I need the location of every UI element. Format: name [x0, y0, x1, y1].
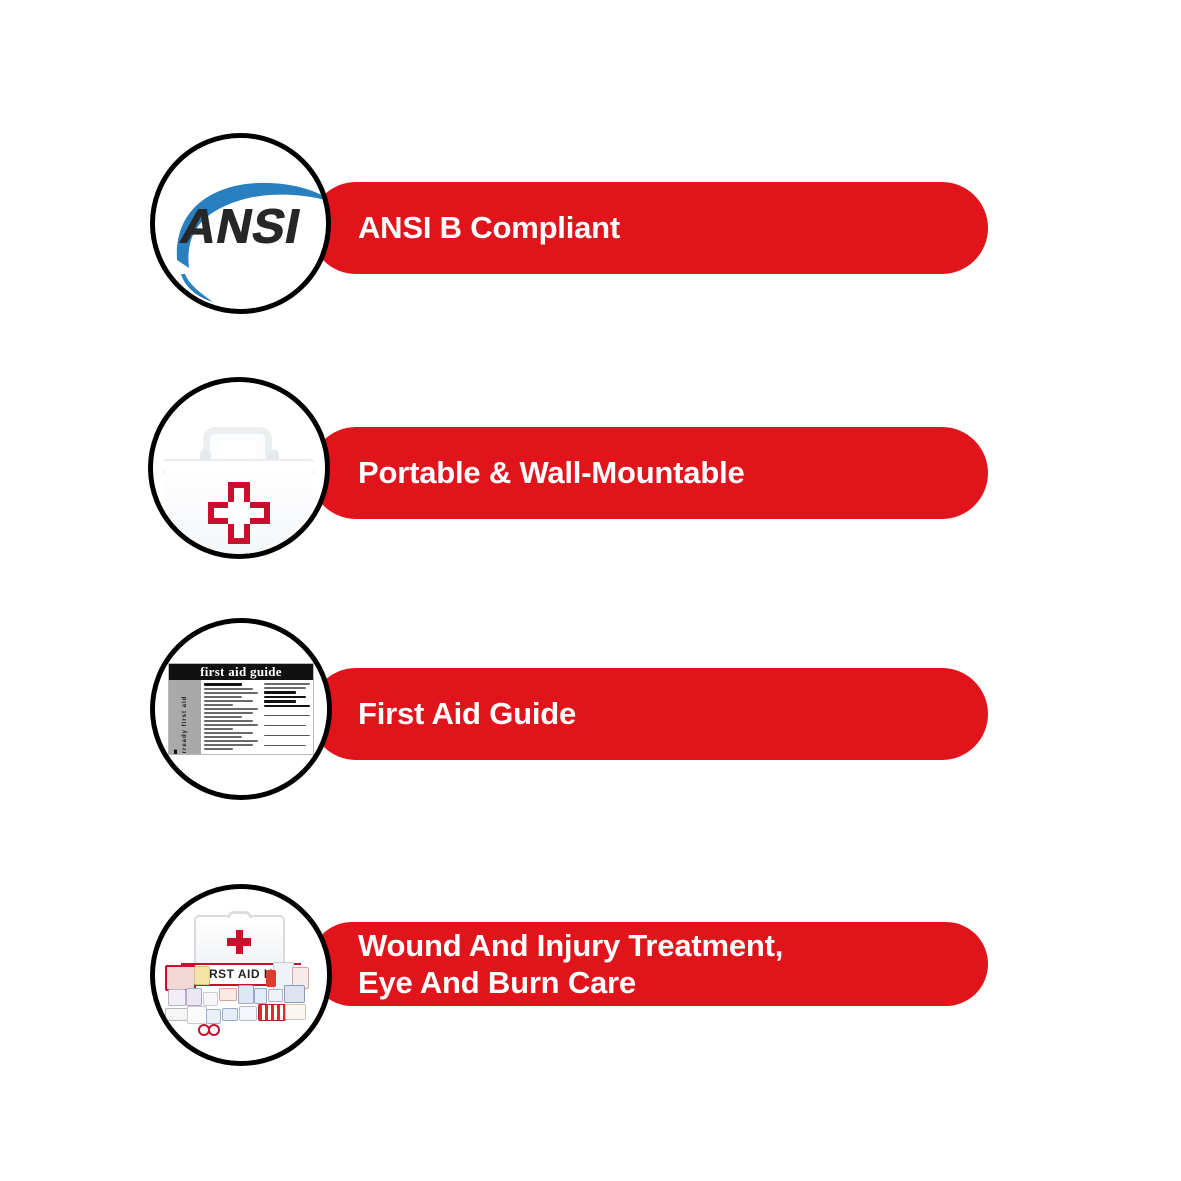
supply-item: [254, 988, 267, 1004]
feature-pill-first-aid-guide[interactable]: First Aid Guide: [310, 668, 988, 760]
supply-item: [219, 988, 237, 1000]
ansi-logo-icon: ANSI: [155, 138, 326, 309]
first-aid-kit-contents-icon: FIRST AID KIT: [155, 889, 327, 1061]
supply-item: [165, 1008, 188, 1022]
feature-pill-portable-wall-mountable[interactable]: Portable & Wall-Mountable: [310, 427, 988, 519]
kit-medical-cross-icon: [227, 930, 251, 954]
guide-card-header: first aid guide: [169, 664, 313, 680]
supply-item: [194, 966, 210, 985]
guide-card-column-left: [201, 680, 261, 753]
medical-cross-icon: [208, 482, 270, 544]
box-handle: [203, 427, 273, 460]
supply-item: [168, 989, 186, 1005]
supply-item: [165, 965, 196, 991]
supply-item: [284, 985, 305, 1003]
first-aid-guide-card-icon: first aid guide everready first aid E-R: [155, 623, 327, 795]
ansi-logo-text: ANSI: [176, 199, 305, 254]
guide-card-brand: everready first aid E-R: [169, 680, 201, 753]
feature-list: ANSI B Compliant ANSI Portable & Wall-Mo…: [0, 0, 1181, 1181]
supply-item: [222, 1008, 238, 1022]
guide-card-column-right: [261, 680, 313, 753]
feature-badge-first-aid-guide: first aid guide everready first aid E-R: [150, 618, 332, 800]
supply-item: [268, 989, 283, 1001]
feature-badge-ansi-b-compliant: ANSI: [150, 133, 331, 314]
feature-badge-portable-wall-mountable: [148, 377, 330, 559]
kit-box-handle: [227, 911, 252, 918]
feature-badge-wound-injury-eye-burn-care: FIRST AID KIT: [150, 884, 332, 1066]
feature-label-wound-injury-eye-burn-care: Wound And Injury Treatment, Eye And Burn…: [310, 927, 783, 1001]
feature-label-portable-wall-mountable: Portable & Wall-Mountable: [310, 454, 745, 492]
supply-item: [239, 1006, 257, 1021]
supply-item: [203, 992, 218, 1006]
feature-pill-ansi-b-compliant[interactable]: ANSI B Compliant: [310, 182, 988, 274]
supply-item: [186, 988, 202, 1006]
feature-label-first-aid-guide: First Aid Guide: [310, 695, 576, 733]
kit-box: [194, 915, 286, 970]
supply-item: [238, 985, 254, 1004]
guide-card-brand-tagline: everready first aid: [182, 696, 188, 754]
guide-card-title: first aid guide: [200, 664, 282, 680]
scissors-icon: [198, 1018, 220, 1036]
first-aid-box-icon: [153, 382, 325, 554]
feature-pill-wound-injury-eye-burn-care[interactable]: Wound And Injury Treatment, Eye And Burn…: [310, 922, 988, 1006]
feature-label-ansi-b-compliant: ANSI B Compliant: [310, 209, 620, 247]
supply-item: [258, 1004, 285, 1022]
supply-item: [285, 1004, 306, 1020]
guide-card-brand-logo: E-R: [169, 750, 201, 754]
box-body: [165, 469, 313, 554]
supply-item: [266, 970, 275, 987]
